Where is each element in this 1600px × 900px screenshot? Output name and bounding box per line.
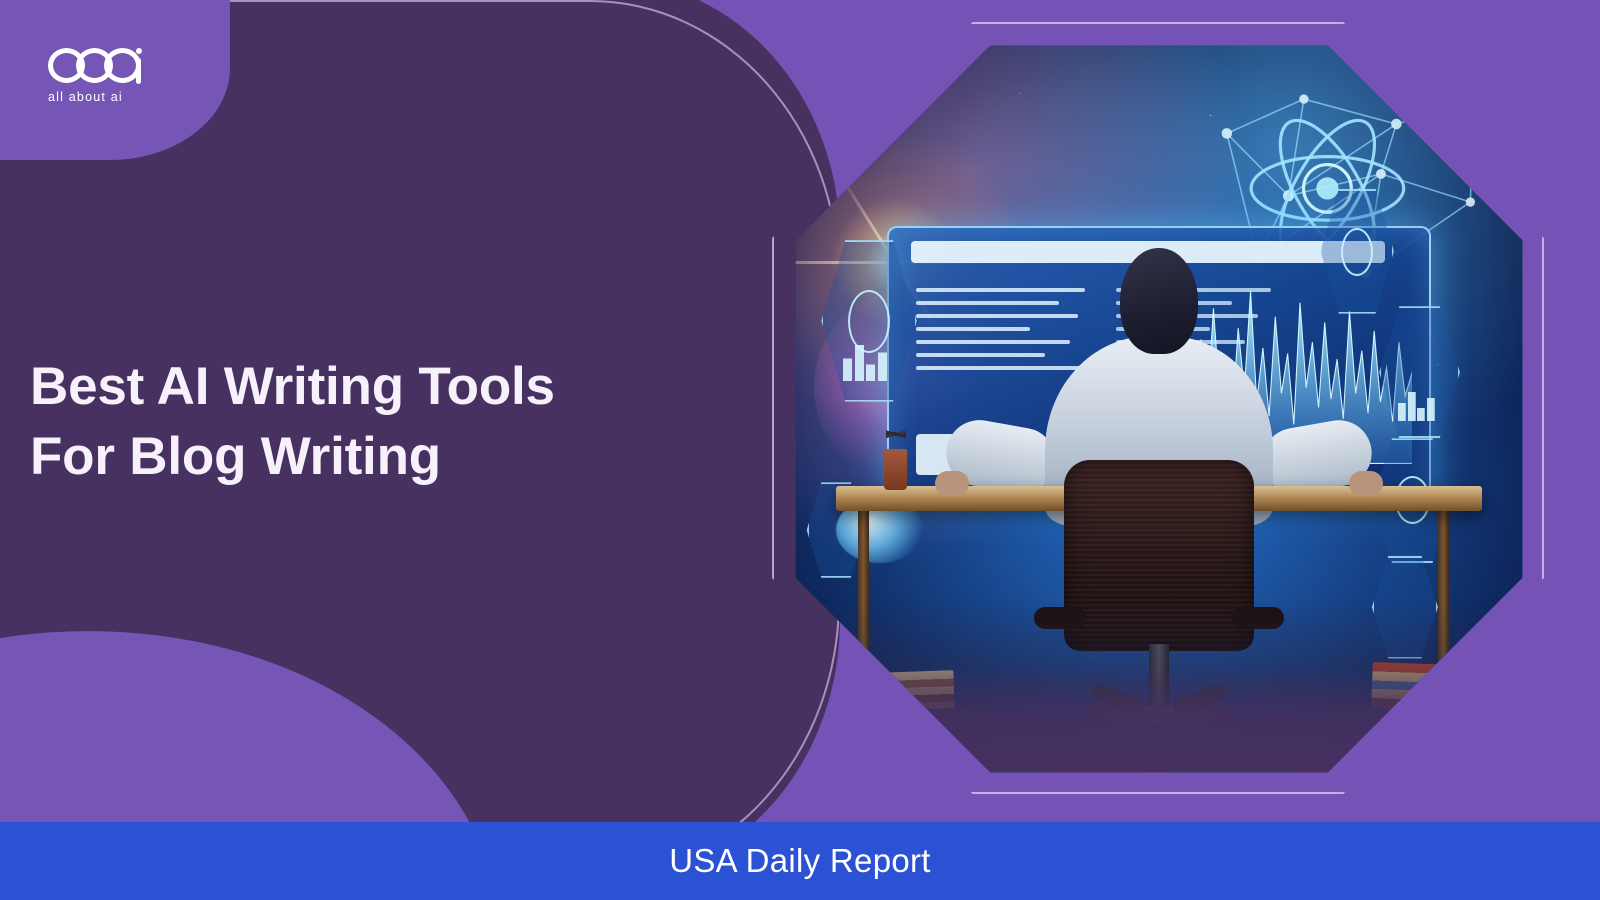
pens — [886, 413, 907, 454]
logo-dot-icon — [136, 48, 142, 54]
hud-bar-chart-icon — [1398, 388, 1441, 421]
bottom-banner: USA Daily Report — [0, 822, 1600, 900]
person-head — [1120, 248, 1197, 354]
logo-stem — [136, 58, 141, 84]
pen-cup — [884, 449, 907, 490]
page-title: Best AI Writing Tools For Blog Writing — [30, 352, 720, 493]
poster-canvas: all about ai Best AI Writing Tools For B… — [0, 0, 1600, 900]
logo-tagline: all about ai — [48, 90, 178, 104]
page-title-line-1: Best AI Writing Tools — [30, 352, 720, 422]
page-title-line-2: For Blog Writing — [30, 422, 720, 492]
hero-image-hexagon — [792, 42, 1526, 776]
person-hand-left — [935, 471, 969, 496]
hud-bar-chart-icon — [843, 340, 894, 381]
hero-illustration — [792, 42, 1526, 776]
monitor-text-column-left — [916, 288, 1099, 379]
hud-ring-icon — [1341, 228, 1373, 276]
person-hand-right — [1349, 471, 1383, 496]
brand-logo[interactable]: all about ai — [48, 48, 178, 112]
banner-title: USA Daily Report — [669, 842, 931, 880]
aaa-logo-icon — [48, 48, 160, 84]
